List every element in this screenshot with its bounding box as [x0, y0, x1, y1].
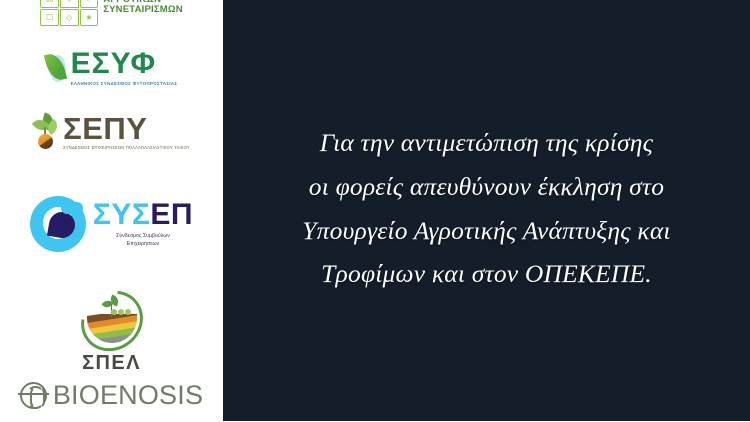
logo-sepy-subtitle: ΣΥΝΔΕΣΜΟΣ ΕΠΙΧΕΙΡΗΣΕΩΝ ΠΟΛΛΑΠΛΑΣΙΑΣΤΙΚΟΥ… — [63, 145, 190, 150]
grid-cell: ☐ — [40, 9, 59, 26]
soil-layers-sprout-icon — [80, 292, 144, 350]
logo-column: 🌾 ● △ ☊ ✦ ○ ☐ ◇ ★ ΕΝΩΣΗ ΑΓΡΟΤΙΚΩΝ ΣΥΝΕΤΑ… — [0, 0, 223, 421]
leaf-shape — [44, 51, 67, 82]
logo-esyf-subtitle: ΕΛΛΗΝΙΚΟΣ ΣΥΝΔΕΣΜΟΣ ΦΥΤΟΠΡΟΣΤΑΣΙΑΣ — [71, 81, 178, 86]
logo-sysep-acronym-part2: ΕΠ — [150, 198, 193, 231]
message-panel: Για την αντιμετώπιση της κρίσης οι φορεί… — [223, 0, 750, 421]
sprout-seed-icon — [33, 113, 59, 151]
spiral-tail — [61, 202, 83, 214]
logo-sysep-subtitle-line2: Επιχειρήσεων — [93, 241, 193, 248]
bioenosis-mark-icon — [20, 382, 47, 409]
logo-sysep-subtitle-line1: Σύνδεσμος Συμβούλων — [93, 233, 193, 240]
logo-sysep: ΣΥΣΕΠ Σύνδεσμος Συμβούλων Επιχειρήσεων — [0, 196, 223, 280]
seed-shape — [38, 134, 53, 149]
horizontal-bar — [18, 393, 49, 395]
logo-spel-acronym: ΣΠΕΛ — [0, 352, 223, 375]
grid-cell: ☊ — [40, 0, 59, 8]
logo-sepy-acronym: ΣΕΠΥ — [63, 114, 190, 143]
grid-cell: ○ — [80, 0, 99, 8]
logo-enosi-text: ΕΝΩΣΗ ΑΓΡΟΤΙΚΩΝ ΣΥΝΕΤΑΙΡΙΣΜΩΝ — [103, 0, 183, 15]
logo-bioenosis: BIOENOSIS — [0, 382, 223, 422]
grid-cell: ★ — [80, 9, 99, 26]
logo-esyf-acronym: ΕΣΥΦ — [71, 50, 178, 79]
leaf-droplet-icon — [46, 51, 68, 85]
message-text: Για την αντιμετώπιση της κρίσης οι φορεί… — [284, 121, 688, 296]
logo-sysep-subtitle: Σύνδεσμος Συμβούλων Επιχειρήσεων — [93, 233, 193, 247]
logo-spel: ΣΠΕΛ — [0, 292, 223, 374]
message-line-4: Τροφίμων και στον ΟΠΕΚΕΠΕ. — [302, 252, 670, 296]
logo-sepy: ΣΕΠΥ ΣΥΝΔΕΣΜΟΣ ΕΠΙΧΕΙΡΗΣΕΩΝ ΠΟΛΛΑΠΛΑΣΙΑΣ… — [0, 113, 223, 169]
logo-esyf: ΕΣΥΦ ΕΛΛΗΝΙΚΟΣ ΣΥΝΔΕΣΜΟΣ ΦΥΤΟΠΡΟΣΤΑΣΙΑΣ — [0, 50, 223, 100]
pea — [118, 309, 124, 315]
message-line-1: Για την αντιμετώπιση της κρίσης — [302, 121, 670, 165]
logo-bioenosis-name: BIOENOSIS — [53, 382, 203, 409]
message-line-3: Υπουργείο Αγροτικής Ανάπτυξης και — [302, 209, 670, 253]
spiral-circle-icon — [30, 196, 86, 252]
pea — [111, 309, 117, 315]
logo-enosi-line3: ΣΥΝΕΤΑΙΡΙΣΜΩΝ — [103, 5, 183, 15]
agricultural-grid-icon: 🌾 ● △ ☊ ✦ ○ ☐ ◇ ★ — [40, 0, 98, 26]
message-line-2: οι φορείς απευθύνουν έκκληση στο — [302, 165, 670, 209]
pea-pods — [111, 309, 135, 317]
s-curve-shape — [27, 386, 44, 409]
grid-cell: ✦ — [60, 0, 79, 8]
pea — [125, 309, 131, 315]
logo-enosi-agrotikon: 🌾 ● △ ☊ ✦ ○ ☐ ◇ ★ ΕΝΩΣΗ ΑΓΡΟΤΙΚΩΝ ΣΥΝΕΤΑ… — [0, 0, 223, 38]
logo-sysep-acronym: ΣΥΣΕΠ — [93, 200, 193, 230]
grid-cell: ◇ — [60, 9, 79, 26]
soil-bowl — [87, 314, 137, 343]
logo-sysep-acronym-part1: ΣΥΣ — [93, 198, 151, 231]
slide-root: 🌾 ● △ ☊ ✦ ○ ☐ ◇ ★ ΕΝΩΣΗ ΑΓΡΟΤΙΚΩΝ ΣΥΝΕΤΑ… — [0, 0, 750, 421]
